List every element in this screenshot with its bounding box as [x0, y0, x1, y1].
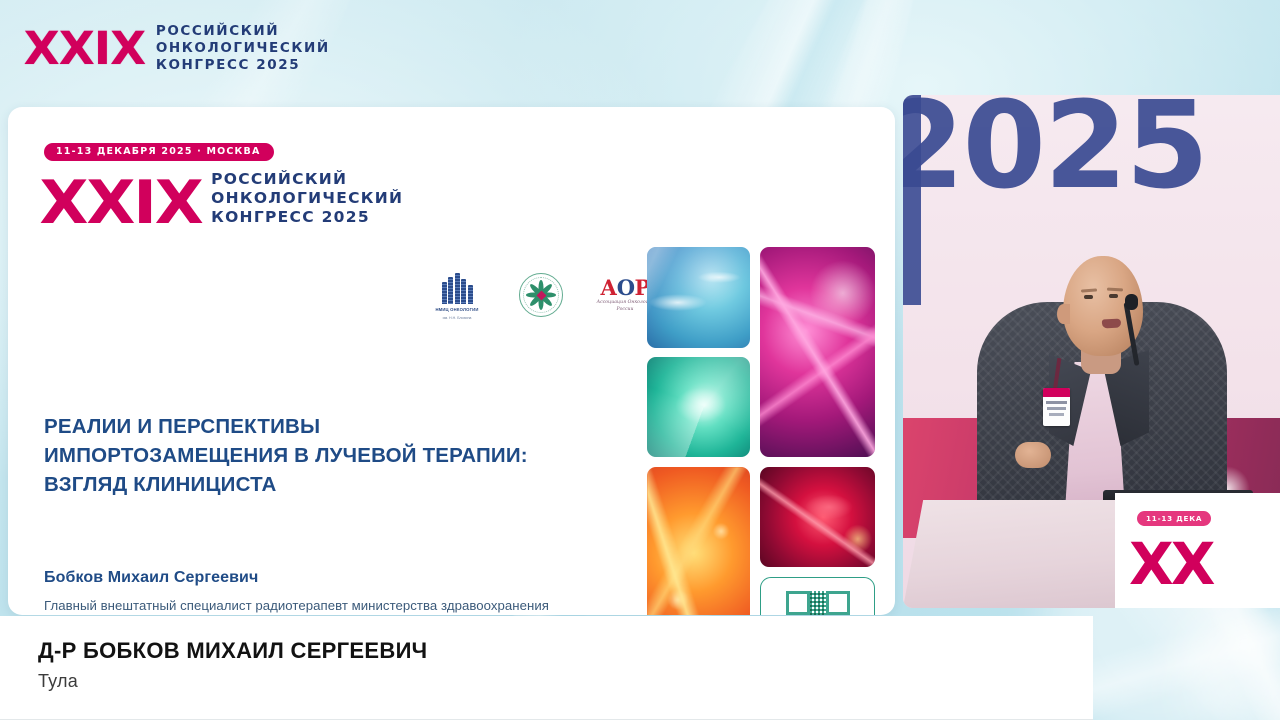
podium-logo-mark: XX: [1129, 535, 1212, 593]
collage-tile-magenta-neurons: [760, 247, 875, 457]
slide-logo-line-1: РОССИЙСКИЙ: [211, 170, 403, 188]
partner-logo-star: [510, 273, 572, 317]
slide-logo-line-2: ОНКОЛОГИЧЕСКИЙ: [211, 189, 403, 207]
slide-date-badge: 11-13 ДЕКАБРЯ 2025 · МОСКВА: [44, 143, 274, 161]
podium-banner: 11-13 ДЕКА XX: [1115, 493, 1280, 608]
partner-logo-nmic: НМИЦ ОНКОЛОГИИ им. Н.Н. Блохина: [426, 270, 488, 321]
slide-speaker-name: Бобков Михаил Сергеевич: [44, 569, 604, 587]
congress-logo-line-2: ОНКОЛОГИЧЕСКИЙ: [156, 41, 330, 57]
congress-logo-line-1: РОССИЙСКИЙ: [156, 24, 330, 40]
collage-tile-teal-swirl: [647, 357, 750, 457]
collage-tile-blue-cells: [647, 247, 750, 348]
partner-nmic-name: НМИЦ ОНКОЛОГИИ: [426, 307, 488, 313]
partner-nmic-sub: им. Н.Н. Блохина: [426, 316, 488, 321]
speaker-caption-bar: Д-Р БОБКОВ МИХАИЛ СЕРГЕЕВИЧ Тула: [0, 616, 1093, 720]
microphone-icon: [1125, 294, 1138, 310]
qr-code-card[interactable]: rosoncoweb.ru: [760, 577, 875, 615]
partner-logos: НМИЦ ОНКОЛОГИИ им. Н.Н. Блохина АОР Ассо: [426, 270, 656, 321]
slide-title-line-3: ВЗГЛЯД КЛИНИЦИСТА: [44, 470, 604, 499]
speaker-ear: [1057, 304, 1070, 324]
presentation-slide[interactable]: 11-13 ДЕКАБРЯ 2025 · МОСКВА XXIX РОССИЙС…: [8, 107, 895, 615]
speaker-mouth: [1102, 319, 1121, 329]
congress-logo: XXIX РОССИЙСКИЙ ОНКОЛОГИЧЕСКИЙ КОНГРЕСС …: [26, 24, 330, 73]
speaker-eye-left: [1084, 295, 1093, 299]
podium: 11-13 ДЕКА XX: [903, 493, 1280, 608]
slide-speaker-block: Бобков Михаил Сергеевич Главный внештатн…: [44, 569, 604, 615]
congress-logo-wordmark: РОССИЙСКИЙ ОНКОЛОГИЧЕСКИЙ КОНГРЕСС 2025: [156, 24, 330, 73]
podium-date-badge: 11-13 ДЕКА: [1137, 511, 1211, 526]
slide-congress-logo: XXIX РОССИЙСКИЙ ОНКОЛОГИЧЕСКИЙ КОНГРЕСС …: [44, 170, 895, 230]
collage-tile-orange-flow: [647, 467, 750, 615]
congress-logo-line-3: КОНГРЕСС 2025: [156, 58, 330, 74]
speaker-video-panel[interactable]: 2025 11-13 ДЕКА XX: [903, 95, 1280, 608]
slide-title: РЕАЛИИ И ПЕРСПЕКТИВЫ ИМПОРТОЗАМЕЩЕНИЯ В …: [44, 412, 604, 499]
congress-logo-mark: XXIX: [24, 26, 146, 71]
slide-image-collage: rosoncoweb.ru: [647, 247, 875, 615]
speaker-name-badge: [1043, 388, 1070, 426]
collage-tile-red-vessels: [760, 467, 875, 567]
speaker-figure: [977, 182, 1227, 542]
slide-logo-wordmark: РОССИЙСКИЙ ОНКОЛОГИЧЕСКИЙ КОНГРЕСС 2025: [211, 170, 403, 230]
speaker-hand: [1015, 442, 1051, 468]
slide-logo-mark: XXIX: [39, 177, 201, 230]
slide-logo-line-3: КОНГРЕСС 2025: [211, 208, 403, 226]
caption-speaker-city: Тула: [38, 671, 78, 692]
nmic-building-icon: [426, 270, 488, 304]
slide-title-line-2: ИМПОРТОЗАМЕЩЕНИЯ В ЛУЧЕВОЙ ТЕРАПИИ:: [44, 441, 604, 470]
speaker-eye-right: [1109, 294, 1118, 298]
green-star-icon: [519, 273, 563, 317]
podium-desk: [903, 500, 1127, 608]
slide-speaker-affiliation: Главный внештатный специалист радиотерап…: [44, 596, 604, 615]
slide-title-line-1: РЕАЛИИ И ПЕРСПЕКТИВЫ: [44, 412, 604, 441]
qr-code-icon: [786, 591, 850, 616]
caption-speaker-name: Д-Р БОБКОВ МИХАИЛ СЕРГЕЕВИЧ: [38, 638, 427, 664]
